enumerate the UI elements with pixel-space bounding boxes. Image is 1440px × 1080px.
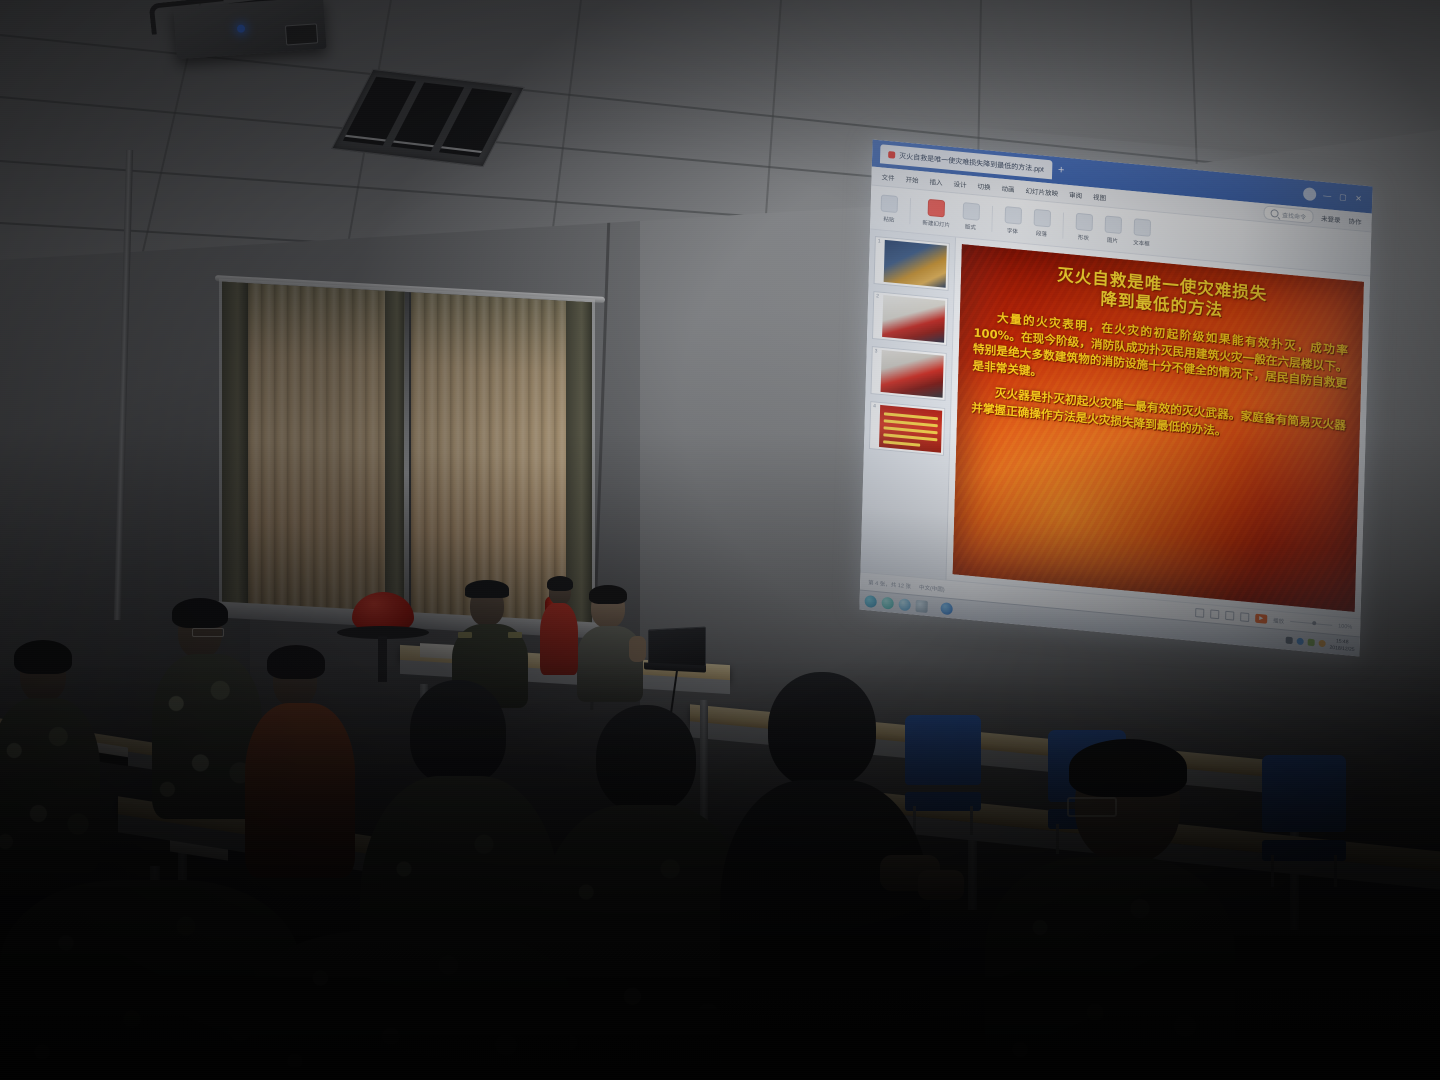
battery-icon[interactable]	[1308, 639, 1315, 647]
chair-leg	[970, 806, 973, 835]
thumb-number: 1	[876, 238, 883, 245]
paste-button[interactable]: 粘贴	[880, 194, 898, 224]
attendee-hair	[1069, 739, 1187, 797]
list-item[interactable]: 4	[869, 401, 945, 456]
taskbar-clock[interactable]: 15:48 2018/12/25	[1329, 638, 1354, 653]
attendee-hand	[918, 870, 964, 900]
thumb-number: 3	[873, 348, 880, 355]
shape-button[interactable]: 形状	[1075, 212, 1093, 242]
attendee-glasses-icon	[1067, 797, 1117, 817]
folder-icon[interactable]	[916, 599, 928, 612]
presenter-raised-hand	[629, 636, 646, 662]
ppt-file-icon	[888, 151, 895, 159]
search-icon	[1271, 209, 1279, 218]
seated-attendee	[245, 645, 355, 875]
language-label[interactable]: 中文(中国)	[919, 583, 945, 593]
ribbon-divider-3	[1062, 212, 1064, 238]
layout-button[interactable]: 版式	[962, 202, 980, 232]
blue-classroom-chair	[1262, 755, 1346, 887]
textbox-button[interactable]: 文本框	[1133, 218, 1151, 248]
textbox-label: 文本框	[1133, 238, 1150, 248]
input-method-icon[interactable]	[1319, 640, 1326, 648]
paste-icon	[881, 194, 898, 213]
font-label: 字体	[1007, 226, 1018, 235]
projected-screen: 灭火自救是唯一使灾难损失降到最低的方法.ppt + — ▢ ✕ 文件 开始 插入…	[859, 140, 1372, 657]
menu-item-file[interactable]: 文件	[881, 171, 894, 182]
attendee-camo-jacket	[0, 698, 100, 873]
curtain-edge-center	[385, 291, 405, 622]
projection-surface: 灭火自救是唯一使灾难损失降到最低的方法.ppt + — ▢ ✕ 文件 开始 插入…	[859, 140, 1372, 657]
assistant-red-coat	[540, 603, 578, 675]
avatar[interactable]	[1303, 187, 1316, 201]
projector-power-led	[237, 24, 246, 33]
notes-view-icon[interactable]	[1240, 612, 1249, 622]
search-input[interactable]: 查找命令	[1264, 205, 1313, 224]
collaborate-label[interactable]: 协作	[1348, 215, 1361, 226]
volume-icon[interactable]	[1297, 638, 1304, 646]
paragraph-button[interactable]: 段落	[1033, 208, 1051, 238]
menu-item-design[interactable]: 设计	[953, 178, 966, 189]
window-light-gap	[404, 292, 409, 622]
attendee-head	[596, 705, 696, 813]
attendee-camo-jacket	[250, 930, 570, 1080]
shape-icon	[1075, 212, 1092, 231]
paste-label: 粘贴	[883, 214, 894, 223]
zoom-slider[interactable]	[1290, 621, 1332, 626]
curtain-edge-left	[222, 282, 248, 613]
font-icon	[1004, 206, 1021, 225]
attendee-dark-jacket	[720, 780, 930, 1080]
list-item[interactable]: 2	[872, 291, 948, 346]
menu-item-home[interactable]: 开始	[905, 174, 918, 185]
slide-indicator: 第 4 张，共 12 张	[868, 578, 911, 590]
attendee-head	[410, 680, 506, 784]
thumb-number: 2	[874, 293, 881, 300]
shape-label: 形状	[1078, 233, 1089, 242]
menu-item-review[interactable]: 审阅	[1069, 189, 1082, 200]
menu-item-slideshow[interactable]: 幻灯片放映	[1025, 185, 1058, 198]
attendee-camo-jacket	[540, 805, 750, 1080]
picture-icon	[1104, 215, 1121, 234]
new-slide-button[interactable]: 新建幻灯片	[922, 198, 950, 229]
browser-icon[interactable]	[865, 594, 877, 607]
classroom-scene: 灭火自救是唯一使灾难损失降到最低的方法.ppt + — ▢ ✕ 文件 开始 插入…	[0, 0, 1440, 1080]
paragraph-label: 段落	[1036, 229, 1047, 238]
ribbon-divider-2	[991, 205, 993, 231]
menu-item-animation[interactable]: 动画	[1001, 183, 1014, 194]
presenter-hair	[589, 585, 627, 604]
firefighters-photo-icon	[884, 240, 947, 288]
new-slide-label: 新建幻灯片	[922, 218, 950, 229]
minimize-button[interactable]: —	[1323, 191, 1332, 201]
chat-icon[interactable]	[882, 596, 894, 609]
attendee-head	[768, 672, 876, 788]
play-label: 播放	[1273, 616, 1284, 625]
current-slide: 灭火自救是唯一使灾难损失 降到最低的方法 大量的火灾表明，在火灾的初起阶级如果能…	[953, 244, 1364, 612]
layout-label: 版式	[965, 222, 976, 231]
shield-icon[interactable]	[941, 602, 953, 615]
red-text-slide-icon	[879, 405, 942, 453]
assistant-in-red	[538, 578, 580, 673]
attendee-orange-jacket	[245, 703, 355, 878]
search-placeholder: 查找命令	[1282, 210, 1306, 221]
clock-date: 2018/12/25	[1329, 644, 1354, 652]
fire-truck-photo-icon	[881, 350, 944, 398]
presenter-speaking	[575, 588, 647, 700]
menu-item-view[interactable]: 视图	[1093, 191, 1106, 202]
seated-attendee	[540, 705, 750, 1080]
thumb-number: 4	[871, 403, 878, 410]
curtain-left-panel	[222, 282, 403, 622]
zoom-level: 100%	[1338, 623, 1352, 630]
menu-item-transition[interactable]: 切换	[977, 180, 990, 191]
ceiling-projector	[173, 0, 326, 59]
reading-view-icon[interactable]	[1225, 611, 1234, 621]
list-item[interactable]: 3	[870, 346, 946, 401]
network-icon[interactable]	[1286, 637, 1293, 645]
officer-shoulder-board	[458, 632, 472, 638]
slide-thumbnail-sidebar[interactable]: 1 2 3 4	[860, 230, 956, 580]
list-item[interactable]: 1	[874, 236, 950, 291]
new-tab-button[interactable]: +	[1058, 165, 1065, 177]
normal-view-icon[interactable]	[1195, 608, 1204, 618]
helmet-stand-pole	[378, 636, 387, 682]
slide-canvas[interactable]: 灭火自救是唯一使灾难损失 降到最低的方法 大量的火灾表明，在火灾的初起阶级如果能…	[946, 238, 1370, 619]
ribbon-divider	[909, 198, 911, 224]
attendee-hair	[172, 598, 228, 628]
window-curtains	[222, 282, 592, 633]
attendee-hair	[14, 640, 72, 674]
officer-shoulder-board	[508, 632, 522, 638]
picture-button[interactable]: 图片	[1104, 215, 1122, 245]
attendee-camo-jacket	[985, 857, 1235, 1080]
paragraph-icon	[1033, 208, 1050, 227]
attendee-hair	[267, 645, 325, 679]
play-slideshow-button[interactable]	[1255, 614, 1267, 624]
cloud-icon[interactable]	[899, 598, 911, 611]
extinguisher-photo-icon	[882, 295, 945, 343]
close-button[interactable]: ✕	[1355, 194, 1364, 204]
seated-attendee	[985, 745, 1235, 1080]
textbox-icon	[1133, 218, 1150, 237]
seated-attendee	[250, 930, 570, 1080]
chair-leg	[1271, 855, 1274, 887]
assistant-hair	[547, 576, 573, 591]
seated-attendee	[0, 640, 100, 870]
menu-item-insert[interactable]: 插入	[929, 176, 942, 187]
attendee-glasses-icon	[192, 628, 224, 637]
officer-cap-icon	[465, 580, 509, 598]
new-slide-icon	[928, 198, 945, 217]
maximize-button[interactable]: ▢	[1339, 192, 1348, 202]
zoom-slider-knob	[1312, 621, 1316, 625]
picture-label: 图片	[1107, 235, 1118, 244]
font-button[interactable]: 字体	[1004, 206, 1022, 236]
projector-lens-icon	[285, 23, 318, 45]
sorter-view-icon[interactable]	[1210, 609, 1219, 619]
chair-leg	[1334, 855, 1337, 887]
chair-backrest	[1262, 755, 1346, 832]
layout-icon	[962, 202, 979, 221]
account-label[interactable]: 未登录	[1321, 213, 1341, 225]
